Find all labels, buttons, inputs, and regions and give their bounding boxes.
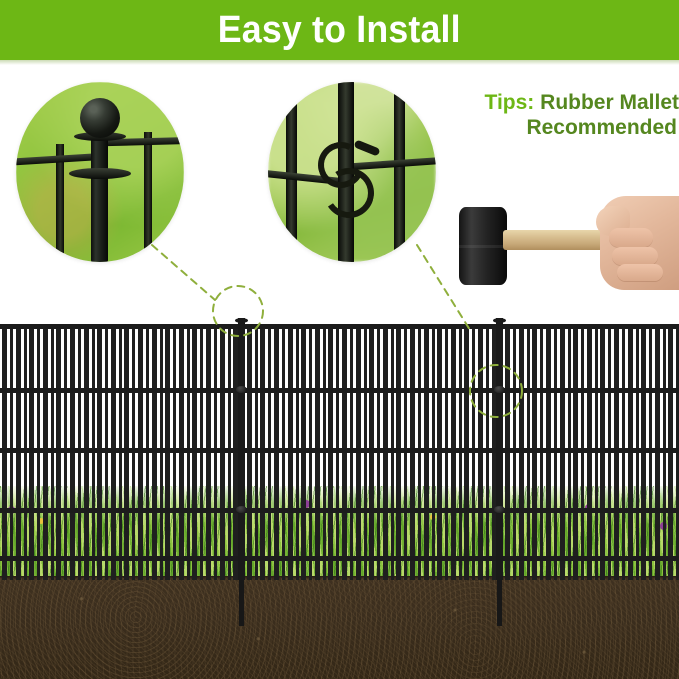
tips-body-line2: Recommended	[452, 115, 679, 140]
post-connector-joint	[236, 386, 247, 393]
page-title: Easy to Install	[218, 9, 461, 52]
fence-horizontal-rail	[0, 324, 679, 329]
post-ball-finial-icon	[80, 98, 120, 138]
hand-finger	[612, 247, 658, 265]
rubber-mallet-head-icon	[459, 207, 507, 285]
soil-cross-section	[0, 576, 679, 679]
fence-post-shaft	[91, 134, 108, 262]
tips-body-line1: Rubber Mallet	[534, 91, 679, 114]
post-connector-joint	[494, 506, 505, 513]
post-connector-joint	[236, 506, 247, 513]
fence-horizontal-rail	[0, 508, 679, 513]
fence-vertical-bar	[394, 82, 405, 262]
post-ground-stake	[239, 580, 244, 626]
callout-circle-hook	[268, 82, 436, 262]
post-connector-joint	[494, 386, 505, 393]
fence-post-left	[238, 318, 245, 580]
post-ground-stake	[497, 580, 502, 626]
hand-finger	[617, 264, 663, 281]
fence-post-right	[496, 318, 503, 580]
hand-finger	[609, 228, 653, 247]
product-infographic: Easy to Install Tips: Rubber Mallet Reco…	[0, 0, 679, 679]
post-collar-lower	[69, 168, 131, 179]
callout-circle-finial	[16, 82, 184, 262]
fence-horizontal-rail	[0, 388, 679, 393]
fence-horizontal-rail	[0, 556, 679, 561]
fence-vertical-bar	[144, 132, 152, 262]
fence-horizontal-rail	[0, 448, 679, 453]
fence-installation-scene	[0, 318, 679, 679]
fence-panel-grid	[0, 318, 679, 588]
tips-callout-text: Tips: Rubber Mallet Recommended	[452, 90, 679, 140]
tips-label: Tips:	[485, 91, 535, 114]
header-banner: Easy to Install	[0, 0, 679, 60]
banner-shadow	[0, 60, 679, 65]
